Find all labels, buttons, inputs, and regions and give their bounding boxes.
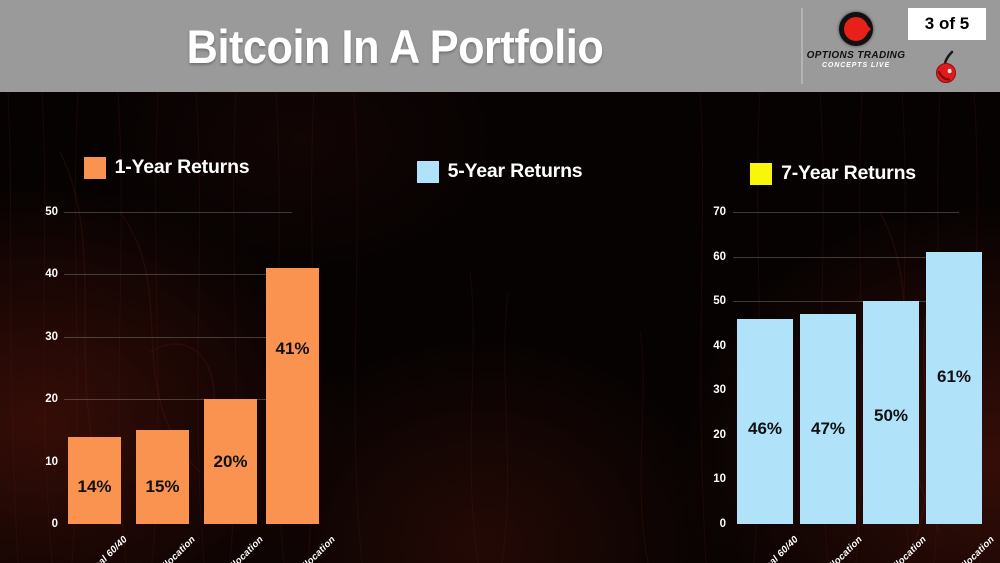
bar-value-label: 14%: [77, 477, 111, 497]
bar-1pct-btc[interactable]: 15%: [136, 430, 189, 524]
x-tick-label: 20% BTC Allocation: [264, 534, 338, 563]
bar-20pct-btc[interactable]: 41%: [266, 268, 319, 524]
logo-line-2: CONCEPTS LIVE: [822, 62, 890, 69]
plot-area-1-year: 50 40 30 20 10 0 14% 15% 20% 41%: [40, 212, 292, 560]
legend-label-5-year: 5-Year Returns: [448, 160, 583, 183]
legend-swatch-5-year: [417, 161, 439, 183]
slide-body: 1-Year Returns 50 40 30 20 10 0 14%: [0, 92, 1000, 563]
legend-swatch-1-year: [84, 157, 106, 179]
cherry-icon: [930, 46, 970, 86]
bar-5pct-btc[interactable]: 20%: [204, 399, 257, 524]
chart-panel-1-year: 1-Year Returns 50 40 30 20 10 0 14%: [0, 92, 333, 563]
legend-1-year: 1-Year Returns: [0, 156, 333, 179]
banner-divider: [801, 8, 803, 84]
legend-label-7-year: 7-Year Returns: [781, 162, 916, 185]
brand-logo: OPTIONS TRADING CONCEPTS LIVE: [812, 12, 900, 84]
page-title: Bitcoin In A Portfolio: [32, 0, 759, 92]
legend-swatch-7-year: [750, 163, 772, 185]
title-banner: Bitcoin In A Portfolio OPTIONS TRADING C…: [0, 0, 1000, 92]
x-tick-label: Traditional 60/40: [66, 534, 130, 563]
bar-value-label: 20%: [213, 452, 247, 472]
chart-panel-7-year: 7-Year Returns 200 150 100 50 0 74% 79%: [666, 92, 1000, 563]
logo-play-icon: [839, 12, 873, 46]
logo-line-1: OPTIONS TRADING: [807, 49, 906, 61]
chart-panel-5-year: 5-Year Returns 70 60 50 40 30 20 10 0 46…: [333, 92, 666, 563]
bar-value-label: 41%: [275, 339, 309, 359]
bar-traditional-60-40[interactable]: 14%: [68, 437, 121, 524]
legend-label-1-year: 1-Year Returns: [115, 156, 250, 179]
x-tick-label: 1% BTC Allocation: [128, 534, 198, 563]
page-counter-badge: 3 of 5: [908, 8, 986, 40]
x-tick-label: 5% BTC Allocation: [196, 534, 266, 563]
legend-7-year: 7-Year Returns: [666, 162, 1000, 185]
bar-value-label: 15%: [145, 477, 179, 497]
legend-5-year: 5-Year Returns: [333, 160, 666, 183]
